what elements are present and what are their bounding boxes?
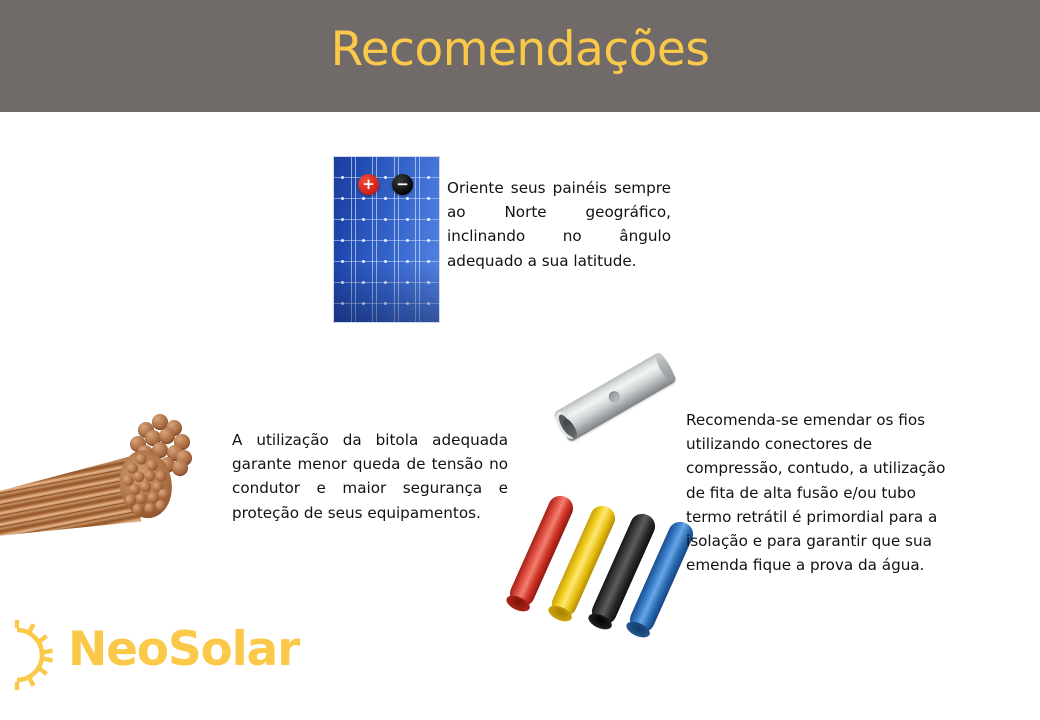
recommendation-text-connector: Recomenda-se emendar os fios utilizando … [686,408,954,577]
compression-connector-icon [553,351,677,442]
solar-panel-icon [333,156,440,323]
panel-positive-terminal-icon: + [358,174,379,195]
page-title: Recomendações [0,19,1040,81]
sun-icon [0,616,56,694]
logo-wordmark: NeoSolar [68,623,299,677]
heat-shrink-tube-icon [523,500,693,610]
recommendation-text-wire: A utilização da bitola adequada garante … [232,428,508,525]
panel-negative-terminal-icon: − [392,174,413,195]
recommendation-text-panel: Oriente seus painéis sempre ao Norte geo… [447,176,671,273]
copper-stranded-wire-icon [0,400,240,550]
